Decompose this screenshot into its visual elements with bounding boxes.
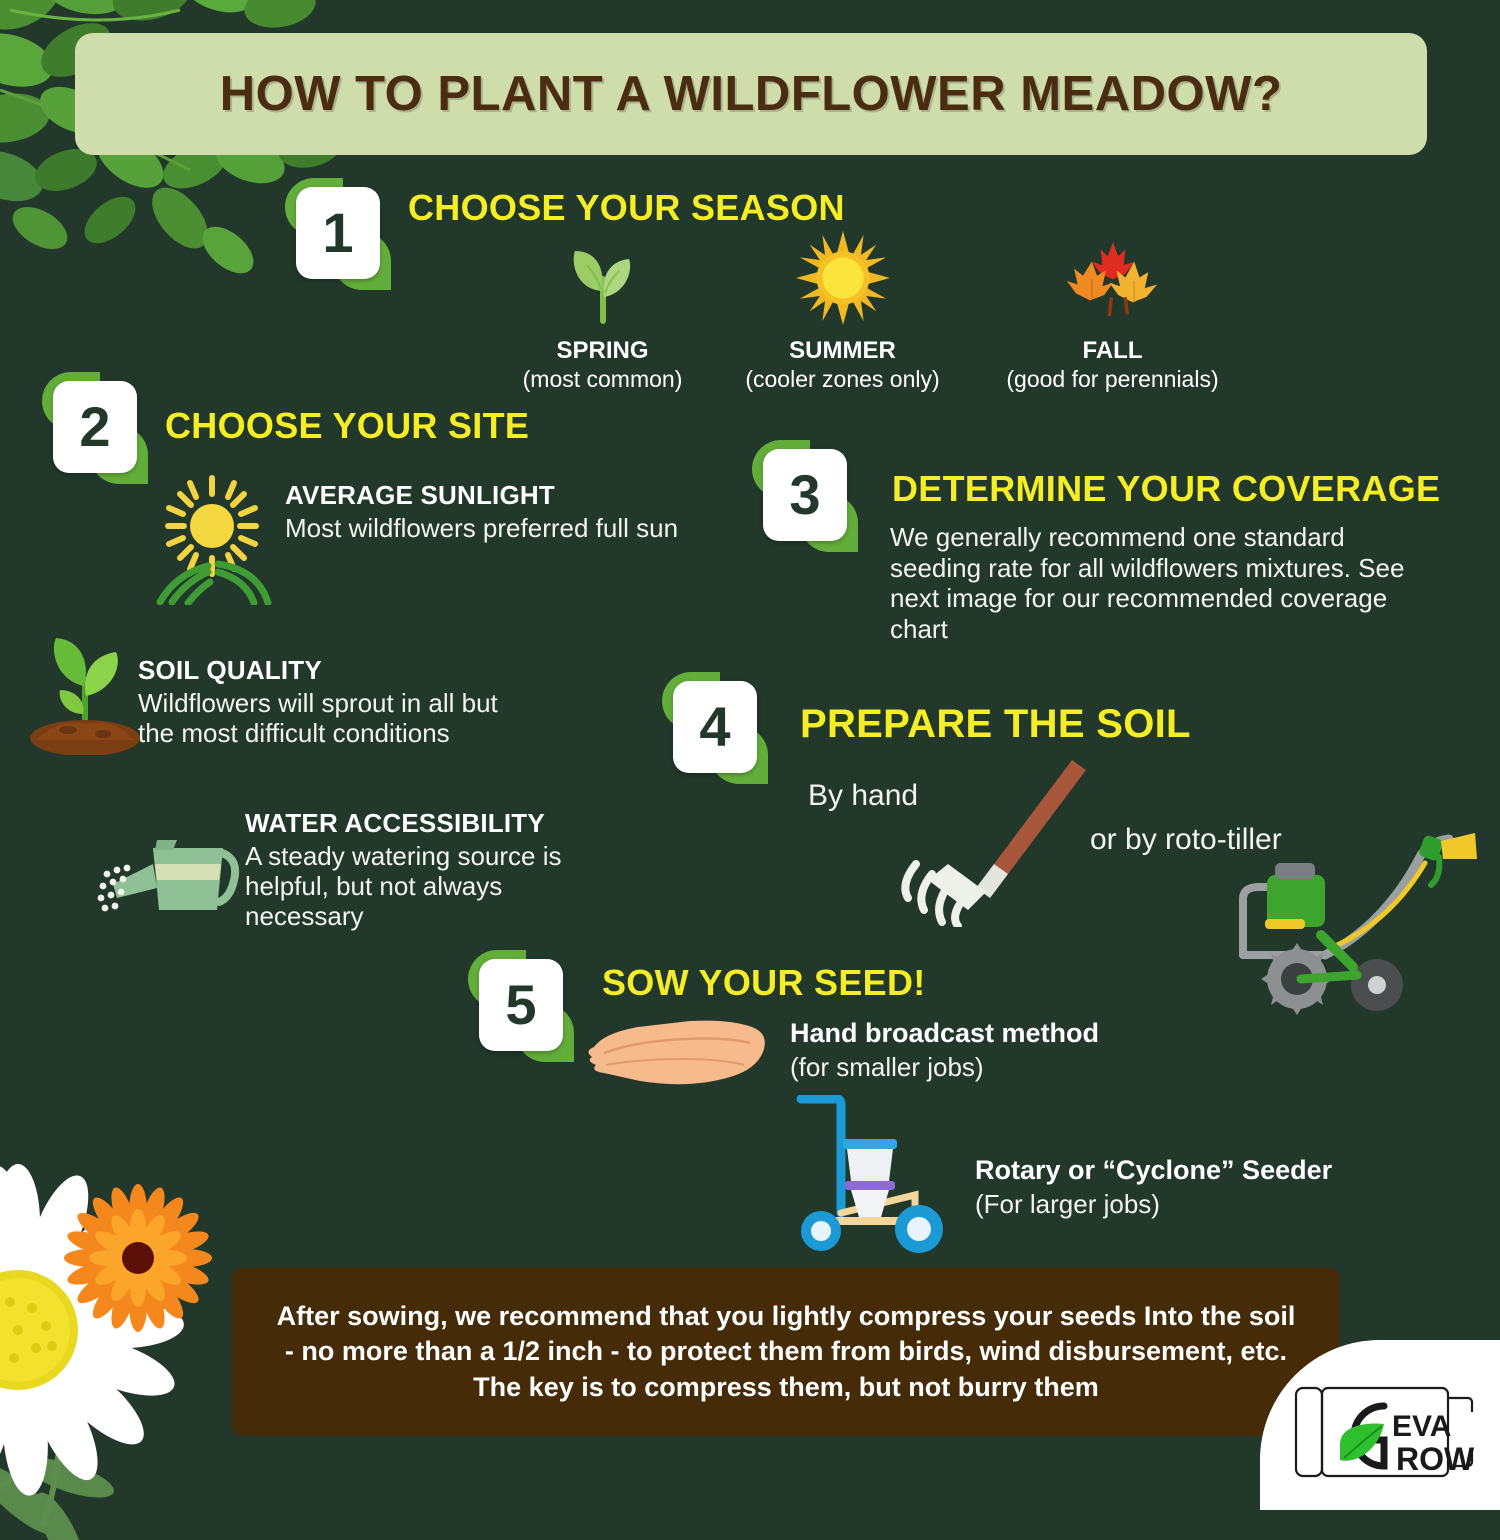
logo-text-row: ROW — [1396, 1441, 1475, 1477]
feature-water-accessibility: WATER ACCESSIBILITY A steady watering so… — [245, 808, 625, 931]
step-number: 5 — [505, 977, 536, 1033]
badge-square: 4 — [673, 681, 757, 773]
method-title: Rotary or “Cyclone” Seeder — [975, 1155, 1332, 1186]
method-title: Hand broadcast method — [790, 1018, 1099, 1049]
maple-leaves-icon — [1000, 235, 1225, 327]
method-note: (for smaller jobs) — [790, 1052, 1099, 1083]
step-number: 1 — [322, 205, 353, 261]
season-name: SPRING — [500, 337, 705, 365]
sprout-in-soil-icon — [28, 630, 143, 755]
step-heading-2: CHOOSE YOUR SITE — [165, 405, 529, 447]
badge-square: 2 — [53, 381, 137, 473]
step-badge-4: 4 — [662, 672, 768, 784]
step-heading-5: SOW YOUR SEED! — [602, 962, 926, 1004]
infographic-canvas: HOW TO PLANT A WILDFLOWER MEADOW? 1 CHOO… — [0, 0, 1500, 1500]
season-spring: SPRING (most common) — [500, 235, 705, 393]
step-badge-1: 1 — [285, 178, 391, 290]
footer-line-3: The key is to compress them, but not bur… — [473, 1372, 1099, 1402]
sun-over-grass-icon — [150, 470, 275, 605]
step-number: 3 — [789, 467, 820, 523]
page-title-banner: HOW TO PLANT A WILDFLOWER MEADOW? — [75, 33, 1427, 155]
eva-grow-logo: EVA ROW — [1292, 1378, 1482, 1486]
hand-broadcast-block: Hand broadcast method (for smaller jobs) — [790, 1018, 1099, 1083]
sun-icon — [740, 235, 945, 327]
coverage-body: We generally recommend one standard seed… — [890, 522, 1410, 645]
season-note: (good for perennials) — [1000, 366, 1225, 393]
feature-title: SOIL QUALITY — [138, 655, 518, 686]
feature-average-sunlight: AVERAGE SUNLIGHT Most wildflowers prefer… — [285, 480, 685, 543]
badge-square: 1 — [296, 187, 380, 279]
page-title: HOW TO PLANT A WILDFLOWER MEADOW? — [220, 66, 1283, 122]
rotary-seeder-icon — [785, 1095, 970, 1255]
badge-square: 3 — [763, 449, 847, 541]
rotary-seeder-block: Rotary or “Cyclone” Seeder (For larger j… — [975, 1155, 1332, 1220]
feature-title: WATER ACCESSIBILITY — [245, 808, 625, 839]
step-number: 4 — [699, 699, 730, 755]
step-badge-2: 2 — [42, 372, 148, 484]
seedling-icon — [500, 235, 705, 327]
rake-icon — [890, 752, 1100, 927]
season-summer: SUMMER (cooler zones only) — [740, 235, 945, 393]
feature-body: Most wildflowers preferred full sun — [285, 513, 685, 543]
footer-line-1: After sowing, we recommend that you ligh… — [277, 1301, 1296, 1331]
season-note: (most common) — [500, 366, 705, 393]
method-note: (For larger jobs) — [975, 1189, 1332, 1220]
feature-title: AVERAGE SUNLIGHT — [285, 480, 685, 511]
open-hand-icon — [580, 1015, 780, 1090]
footer-note-text: After sowing, we recommend that you ligh… — [263, 1299, 1310, 1406]
logo-text-eva: EVA — [1392, 1410, 1451, 1443]
footer-note-banner: After sowing, we recommend that you ligh… — [232, 1268, 1340, 1436]
watering-can-icon — [95, 818, 240, 928]
step-badge-5: 5 — [468, 950, 574, 1062]
season-name: SUMMER — [740, 337, 945, 365]
step-heading-1: CHOOSE YOUR SEASON — [408, 187, 845, 229]
roto-tiller-icon — [1225, 815, 1495, 1015]
badge-square: 5 — [479, 959, 563, 1051]
season-fall: FALL (good for perennials) — [1000, 235, 1225, 393]
footer-line-2: - no more than a 1/2 inch - to protect t… — [285, 1336, 1287, 1366]
feature-body: A steady watering source is helpful, but… — [245, 841, 625, 931]
feature-soil-quality: SOIL QUALITY Wildflowers will sprout in … — [138, 655, 518, 748]
step-number: 2 — [79, 399, 110, 455]
season-name: FALL — [1000, 337, 1225, 365]
step-badge-3: 3 — [752, 440, 858, 552]
season-note: (cooler zones only) — [740, 366, 945, 393]
feature-body: Wildflowers will sprout in all but the m… — [138, 688, 518, 748]
step-heading-3: DETERMINE YOUR COVERAGE — [892, 468, 1440, 510]
step-heading-4: PREPARE THE SOIL — [800, 702, 1191, 747]
